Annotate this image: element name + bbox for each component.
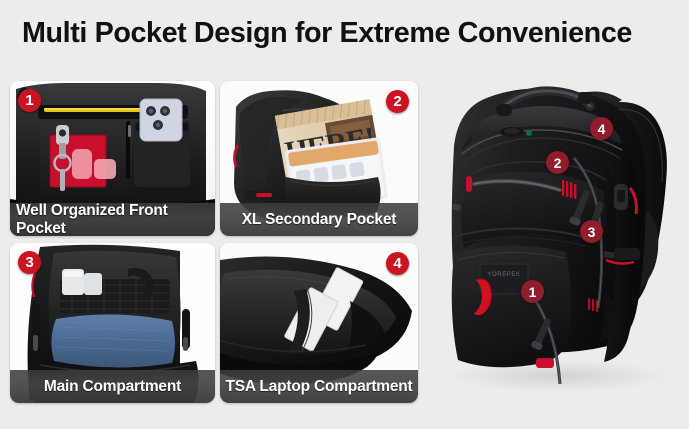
brand-label: YOREPEK xyxy=(487,272,520,278)
feature-panel-3[interactable]: 3 Main Compartment xyxy=(10,243,215,403)
panel-2-caption: XL Secondary Pocket xyxy=(220,203,418,236)
feature-panel-4[interactable]: 4 TSA Laptop Compartment xyxy=(220,243,418,403)
page-title: Multi Pocket Design for Extreme Convenie… xyxy=(22,17,632,50)
feature-panel-2[interactable]: HERE! xyxy=(220,81,418,236)
panel-1-caption: Well Organized Front Pocket xyxy=(10,203,215,236)
hero-marker-1[interactable]: 1 xyxy=(521,280,544,303)
feature-panel-1[interactable]: 1 Well Organized Front Pocket xyxy=(10,81,215,236)
hero-marker-3[interactable]: 3 xyxy=(580,220,603,243)
hero-marker-4[interactable]: 4 xyxy=(590,117,613,140)
panel-3-badge: 3 xyxy=(18,251,41,274)
infographic-canvas: Multi Pocket Design for Extreme Convenie… xyxy=(0,0,689,429)
panel-2-badge: 2 xyxy=(386,90,409,113)
panel-3-caption: Main Compartment xyxy=(10,370,215,403)
panel-4-badge: 4 xyxy=(386,252,409,275)
hero-marker-2[interactable]: 2 xyxy=(546,151,569,174)
panel-4-caption: TSA Laptop Compartment xyxy=(220,370,418,403)
hero-product-image: YOREPEK xyxy=(418,58,686,408)
panel-1-badge: 1 xyxy=(18,89,41,112)
